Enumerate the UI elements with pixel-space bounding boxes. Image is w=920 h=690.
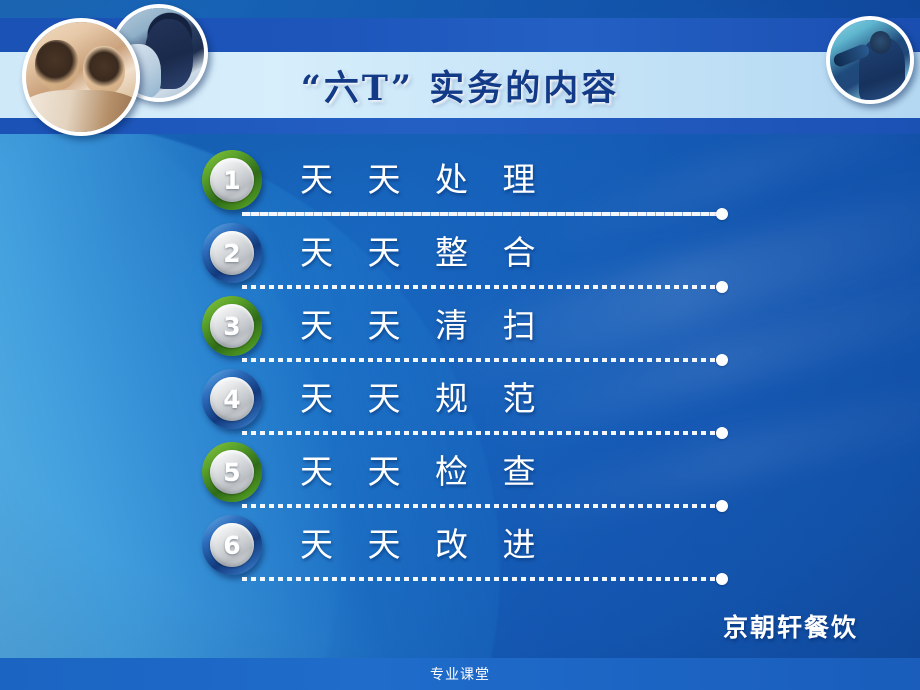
number-badge-icon: 4 (202, 369, 262, 429)
content-list: 1 天 天 处 理 2 天 天 整 合 (0, 146, 920, 584)
item-separator (242, 503, 728, 508)
list-item: 6 天 天 改 进 (0, 511, 920, 584)
number-badge-icon: 2 (202, 223, 262, 283)
badge-number: 6 (223, 533, 240, 558)
item-separator (242, 211, 728, 216)
number-badge-icon: 5 (202, 442, 262, 502)
presentation-slide: “六T” 实务的内容 1 天 天 处 理 (0, 0, 920, 690)
list-item: 1 天 天 处 理 (0, 146, 920, 219)
badge-disc: 6 (210, 523, 254, 567)
badge-disc: 3 (210, 304, 254, 348)
badge-number: 5 (223, 460, 240, 485)
number-badge-icon: 3 (202, 296, 262, 356)
list-item-label: 天 天 处 理 (300, 146, 547, 208)
banner-stripe-bottom (0, 118, 920, 134)
item-separator (242, 576, 728, 581)
badge-disc: 1 (210, 158, 254, 202)
separator-end-dot-icon (716, 573, 728, 585)
list-item: 2 天 天 整 合 (0, 219, 920, 292)
list-item-label: 天 天 规 范 (300, 365, 547, 427)
list-item: 3 天 天 清 扫 (0, 292, 920, 365)
separator-line (242, 577, 721, 581)
footer-bar: 专业课堂 (0, 658, 920, 690)
separator-line (242, 212, 721, 216)
two-businessmen-photo (22, 18, 140, 136)
list-item-label: 天 天 清 扫 (300, 292, 547, 354)
separator-line (242, 358, 721, 362)
list-item: 4 天 天 规 范 (0, 365, 920, 438)
number-badge-icon: 1 (202, 150, 262, 210)
separator-line (242, 504, 721, 508)
list-item-label: 天 天 整 合 (300, 219, 547, 281)
photo-image (26, 22, 136, 132)
number-badge-icon: 6 (202, 515, 262, 575)
separator-line (242, 285, 721, 289)
item-separator (242, 284, 728, 289)
presenter-photo (826, 16, 914, 104)
photo-shape (22, 90, 140, 136)
badge-number: 1 (223, 168, 240, 193)
list-item-label: 天 天 检 查 (300, 438, 547, 500)
list-item-label: 天 天 改 进 (300, 511, 547, 573)
badge-disc: 5 (210, 450, 254, 494)
item-separator (242, 430, 728, 435)
list-item: 5 天 天 检 查 (0, 438, 920, 511)
photo-shape (870, 31, 891, 53)
badge-number: 3 (223, 314, 240, 339)
badge-disc: 4 (210, 377, 254, 421)
badge-number: 4 (223, 387, 240, 412)
badge-number: 2 (223, 241, 240, 266)
company-signature: 京朝轩餐饮 (723, 608, 858, 644)
item-separator (242, 357, 728, 362)
separator-line (242, 431, 721, 435)
photo-image (830, 20, 910, 100)
photo-shape (35, 40, 79, 91)
footer-label: 专业课堂 (430, 664, 490, 684)
badge-disc: 2 (210, 231, 254, 275)
photo-shape (83, 46, 125, 94)
